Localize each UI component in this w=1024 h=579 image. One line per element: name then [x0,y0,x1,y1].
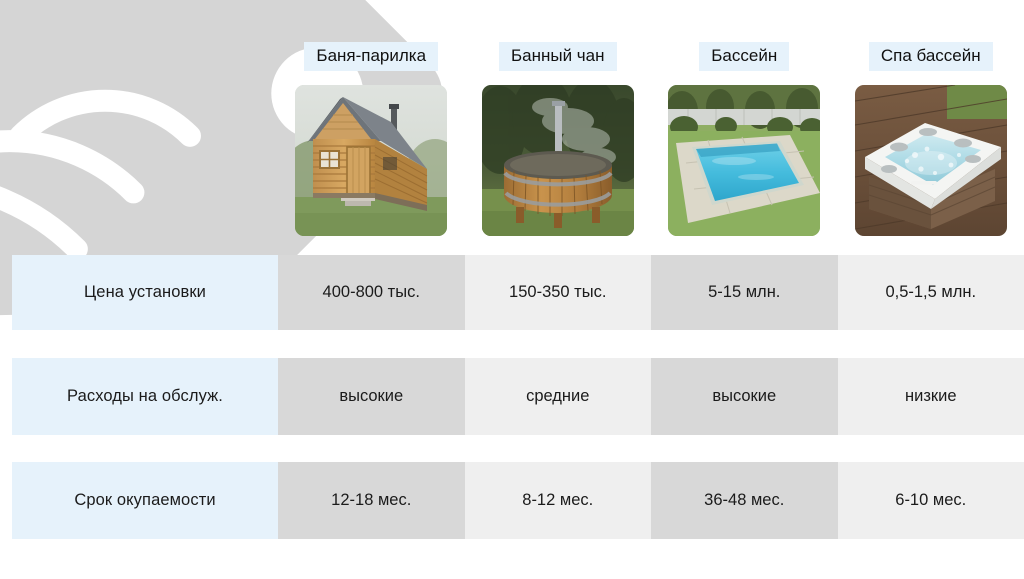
outdoor-pool-photo [668,85,820,236]
cell-tub: 8-12 мес. [465,462,652,539]
row-installation-price: Цена установки 400-800 тыс. 150-350 тыс.… [0,255,1024,330]
image-cell-pool [651,85,838,236]
cell-tub: 150-350 тыс. [465,255,652,330]
header-cell-sauna: Баня-парилка [278,41,465,72]
cell-sauna: высокие [278,358,465,435]
image-cell-spa [838,85,1024,236]
image-cell-tub [465,85,652,236]
log-sauna-cabin-photo [295,85,447,236]
cell-spa: низкие [838,358,1024,435]
cell-spa: 0,5-1,5 млн. [838,255,1024,330]
cell-spa: 6-10 мес. [838,462,1024,539]
row-maintenance-cost: Расходы на обслуж. высокие средние высок… [0,358,1024,435]
header-cell-tub: Банный чан [465,41,652,72]
header-corner-spacer [0,41,278,72]
comparison-table-page: Баня-парилка Банный чан Бассейн Спа басс… [0,0,1024,579]
image-cell-sauna [278,85,465,236]
cell-pool: 36-48 мес. [651,462,838,539]
row-label-cell: Цена установки [0,255,278,330]
table-header-row: Баня-парилка Банный чан Бассейн Спа басс… [0,41,1024,72]
table-image-row [0,85,1024,236]
cell-pool: высокие [651,358,838,435]
header-cell-spa: Спа бассейн [838,41,1024,72]
image-row-spacer [0,85,278,236]
row-label-cell: Срок окупаемости [0,462,278,539]
header-chip-label: Бассейн [699,42,789,71]
header-chip-label: Банный чан [499,42,617,71]
cell-sauna: 12-18 мес. [278,462,465,539]
row-payback-period: Срок окупаемости 12-18 мес. 8-12 мес. 36… [0,462,1024,539]
cell-pool: 5-15 млн. [651,255,838,330]
wooden-hot-tub-photo [482,85,634,236]
header-cell-pool: Бассейн [651,41,838,72]
row-label: Цена установки [12,255,278,330]
row-label-cell: Расходы на обслуж. [0,358,278,435]
row-label: Срок окупаемости [12,462,278,539]
spa-hot-tub-photo [855,85,1007,236]
cell-sauna: 400-800 тыс. [278,255,465,330]
cell-tub: средние [465,358,652,435]
row-label: Расходы на обслуж. [12,358,278,435]
header-chip-label: Спа бассейн [869,42,993,71]
header-chip-label: Баня-парилка [304,42,438,71]
